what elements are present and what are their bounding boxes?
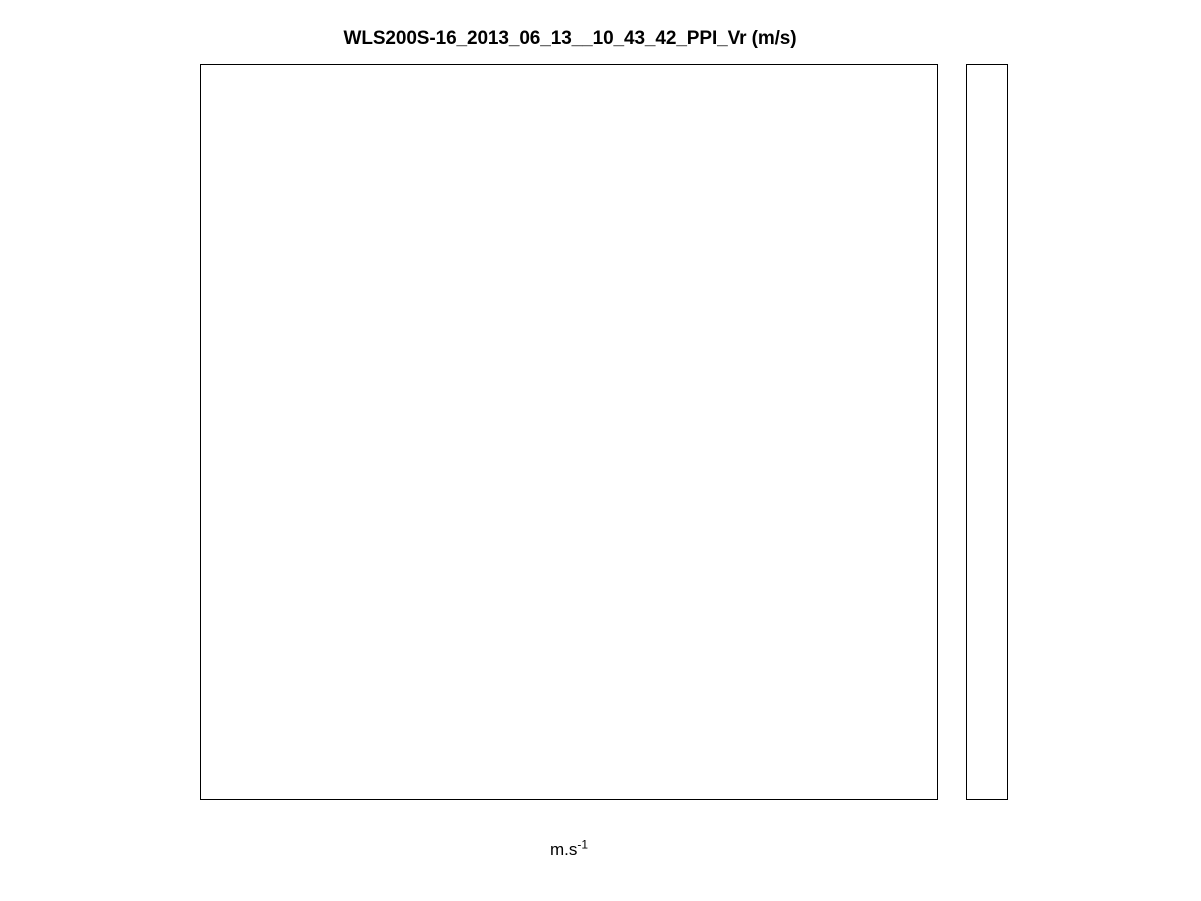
ppi-scan-image [201, 65, 939, 801]
colorbar-gradient [967, 65, 1009, 801]
ppi-plot-axes[interactable] [200, 64, 938, 800]
x-axis-label: m.s-1 [200, 840, 938, 860]
x-axis-label-exponent: -1 [577, 837, 588, 851]
x-axis-label-text: m.s [550, 840, 577, 859]
figure-canvas: WLS200S-16_2013_06_13__10_43_42_PPI_Vr (… [0, 0, 1201, 901]
colorbar[interactable] [966, 64, 1008, 800]
page-title: WLS200S-16_2013_06_13__10_43_42_PPI_Vr (… [0, 28, 1140, 50]
